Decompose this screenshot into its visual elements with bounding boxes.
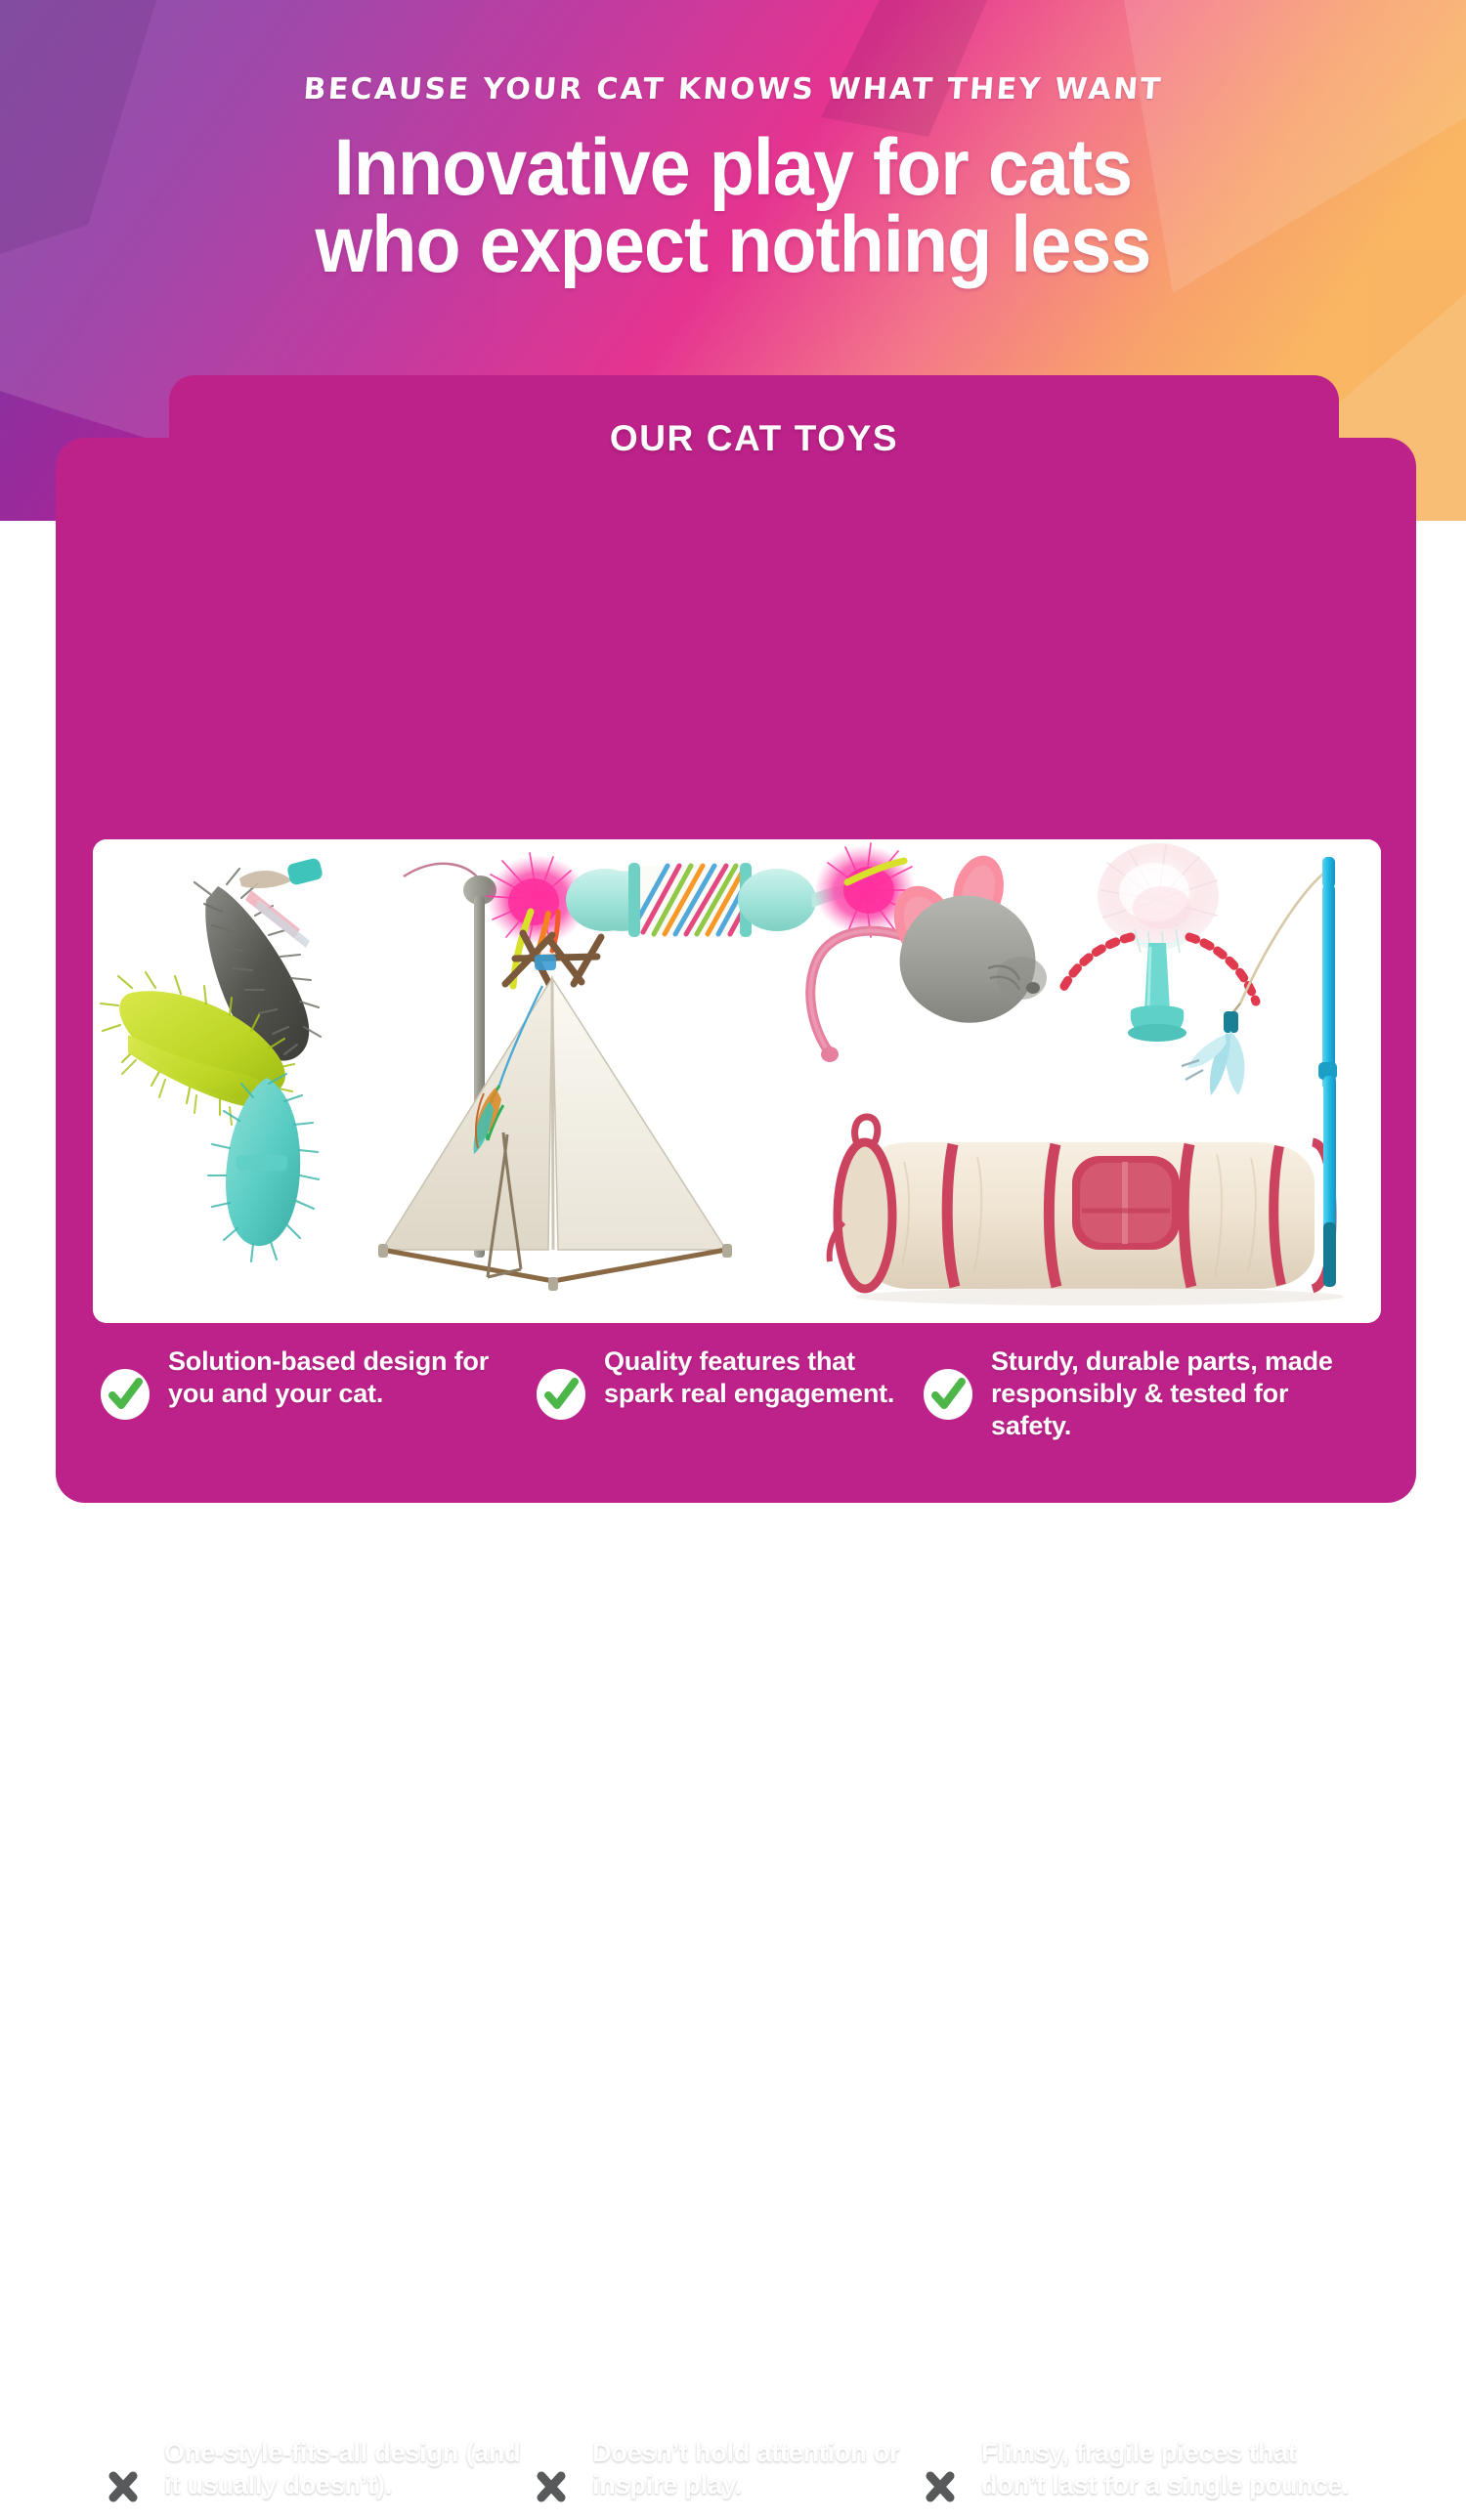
pop-up-cat-tunnel [830,1117,1344,1305]
page-title: Innovative play for cats who expect noth… [59,130,1407,283]
our-cat-toys-header-tab: OUR CAT TOYS [169,375,1339,483]
other-bullet-2: Doesn’t hold attention or inspire play. [526,2437,915,2520]
x-circle-icon [98,2458,149,2520]
hero-header: BECAUSE YOUR CAT KNOWS WHAT THEY WANT In… [0,0,1466,283]
other-bullet-3-text: Flimsy, fragile pieces that don’t last f… [981,2437,1353,2501]
cat-toys-product-photo [93,839,1381,1323]
tagline: BECAUSE YOUR CAT KNOWS WHAT THEY WANT [0,72,1466,107]
our-cat-toys-title: OUR CAT TOYS [169,420,1339,456]
x-circle-icon [915,2458,966,2520]
our-bullet-2: Quality features that spark real engagem… [534,1345,921,1442]
product-photo-card [93,839,1381,1323]
our-cat-toys-bullets: Solution-based design for you and your c… [98,1345,1417,1442]
other-bullet-2-text: Doesn’t hold attention or inspire play. [592,2437,915,2501]
check-circle-icon [98,1367,152,1427]
check-circle-icon [534,1367,588,1427]
other-bullet-3: Flimsy, fragile pieces that don’t last f… [915,2437,1353,2520]
our-bullet-3-text: Sturdy, durable parts, made responsibly … [991,1345,1351,1442]
our-bullet-1-text: Solution-based design for you and your c… [168,1345,534,1410]
other-bullet-1: One-style-fits-all design (and it usuall… [98,2437,526,2520]
our-bullet-3: Sturdy, durable parts, made responsibly … [921,1345,1351,1442]
headline-line-2: who expect nothing less [59,207,1407,284]
check-circle-icon [921,1367,975,1427]
x-circle-icon [526,2458,577,2520]
our-bullet-1: Solution-based design for you and your c… [98,1345,534,1442]
headline-line-1: Innovative play for cats [59,130,1407,207]
other-bullet-1-text: One-style-fits-all design (and it usuall… [164,2437,526,2501]
our-bullet-2-text: Quality features that spark real engagem… [604,1345,921,1410]
other-cat-toys-bullets: One-style-fits-all design (and it usuall… [98,2437,1417,2520]
